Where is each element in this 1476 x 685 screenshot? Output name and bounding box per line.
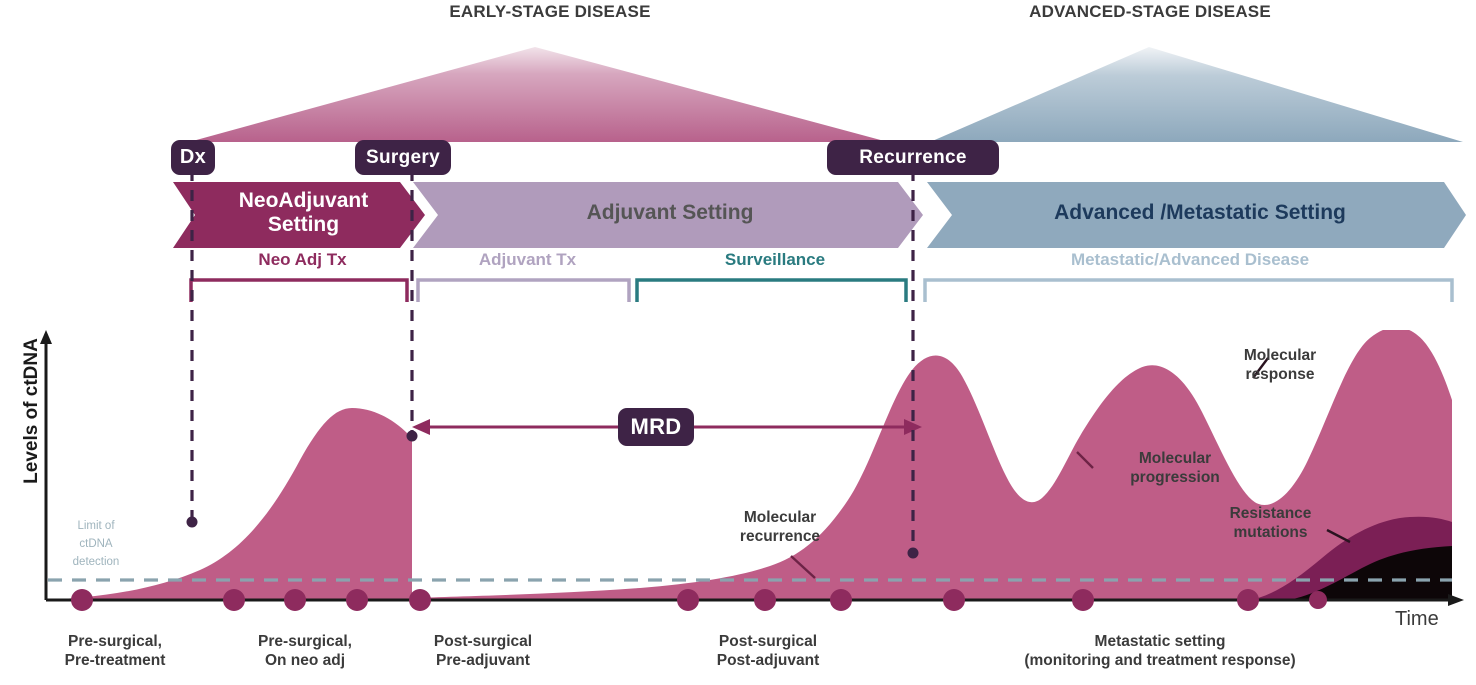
footer-label-pre-surgical-on-neo-adj: Pre-surgical, On neo adj xyxy=(210,632,400,671)
annotation-molecular-response: Molecular response xyxy=(1205,347,1355,385)
early-stage-fan xyxy=(189,47,888,142)
header-advanced-stage: ADVANCED-STAGE DISEASE xyxy=(955,2,1345,22)
stage-fan-triangles xyxy=(0,30,1476,145)
limit-of-detection-label: Limit of ctDNA detection xyxy=(50,518,142,571)
milestone-chip-dx[interactable]: Dx xyxy=(171,140,215,175)
footer-label-post-surgical-pre-adjuvant: Post-surgical Pre-adjuvant xyxy=(388,632,578,671)
header-early-stage: EARLY-STAGE DISEASE xyxy=(355,2,745,22)
drop-dot-surgery xyxy=(407,431,418,442)
x-axis-label: Time xyxy=(1395,608,1439,631)
annotation-molecular-recurrence: Molecular recurrence xyxy=(700,509,860,547)
drop-dot-recurrence xyxy=(908,548,919,559)
annotation-resistance-mutations: Resistance mutations xyxy=(1198,505,1343,543)
advanced-stage-fan xyxy=(930,47,1463,142)
x-axis-arrow xyxy=(1448,594,1464,606)
footer-label-metastatic-setting: Metastatic setting (monitoring and treat… xyxy=(960,632,1360,671)
footer-label-post-surgical-post-adjuvant: Post-surgical Post-adjuvant xyxy=(668,632,868,671)
annotation-molecular-progression: Molecular progression xyxy=(1095,450,1255,488)
milestone-chip-recurrence[interactable]: Recurrence xyxy=(827,140,999,175)
drop-dot-dx xyxy=(187,517,198,528)
milestone-chip-mrd[interactable]: MRD xyxy=(618,408,694,446)
milestone-chip-surgery[interactable]: Surgery xyxy=(355,140,451,175)
footer-label-pre-surgical-pre-treatment: Pre-surgical, Pre-treatment xyxy=(20,632,210,671)
ctdna-timeline-figure: EARLY-STAGE DISEASE ADVANCED-STAGE DISEA… xyxy=(0,0,1476,685)
